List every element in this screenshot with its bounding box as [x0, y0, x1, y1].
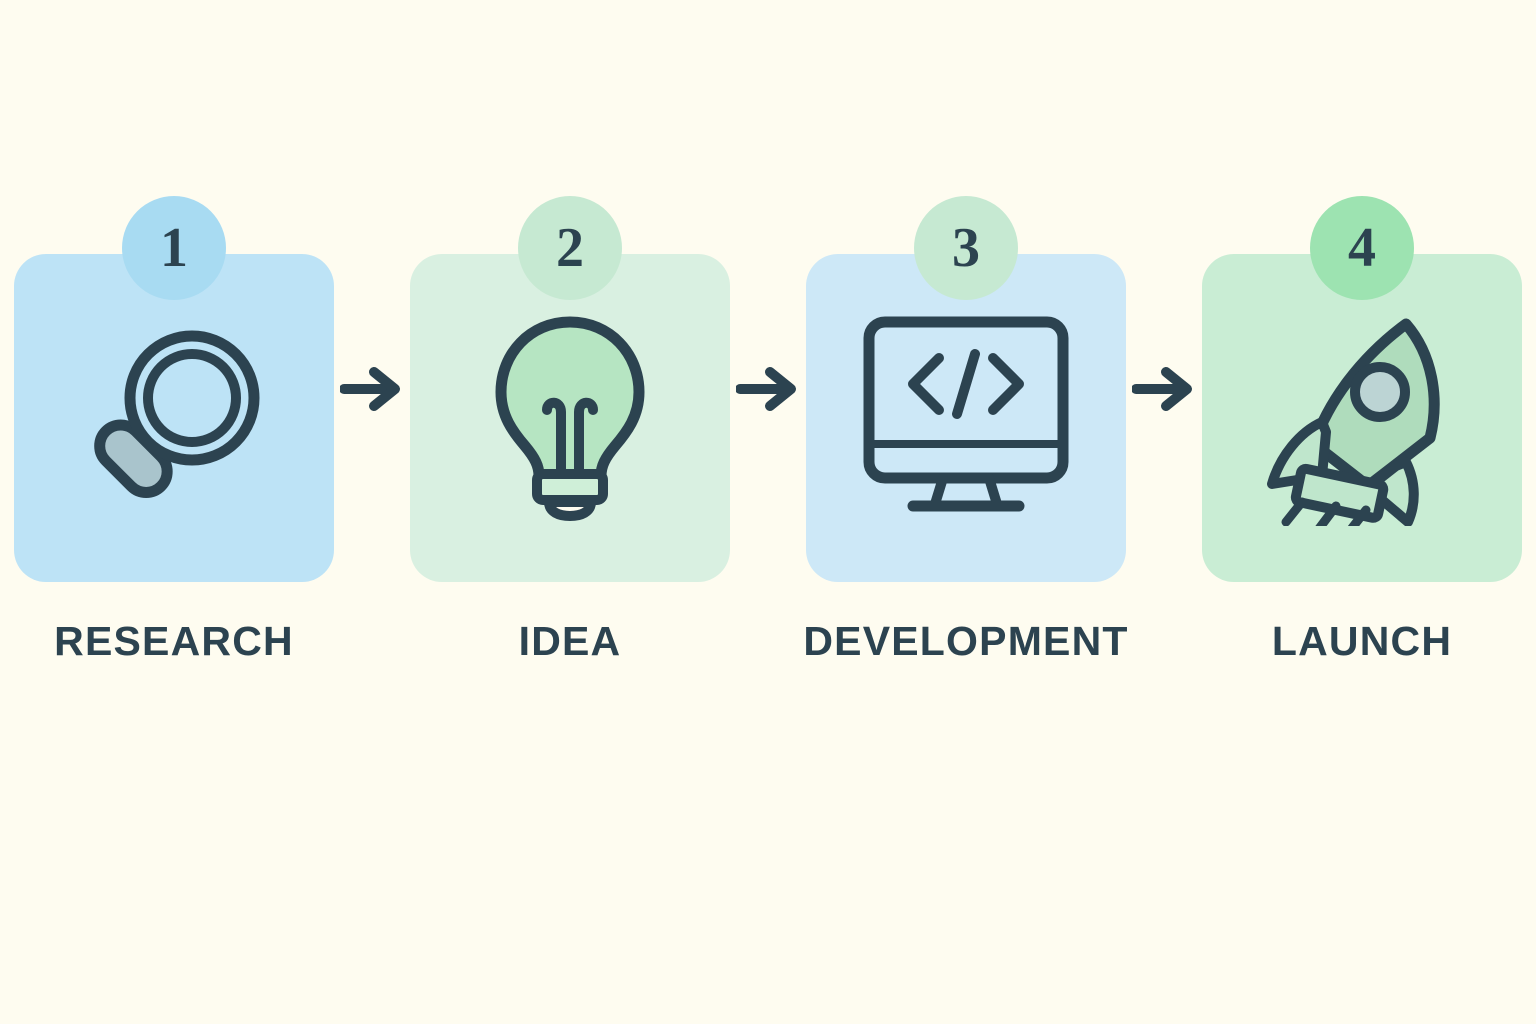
- step-research[interactable]: 1 RESEARCH: [14, 196, 334, 665]
- monitor-code-icon: [861, 314, 1071, 522]
- step-number-4: 4: [1348, 216, 1376, 280]
- arrow-2: [730, 196, 806, 524]
- process-flow: 1 RESEARCH: [0, 196, 1536, 756]
- step-number-1: 1: [160, 216, 188, 280]
- step-card-1[interactable]: [14, 254, 334, 582]
- step-launch[interactable]: 4 LAUNCH: [1202, 196, 1522, 665]
- arrow-1: [334, 196, 410, 524]
- arrow-right-icon: [1132, 364, 1196, 414]
- step-card-3[interactable]: [806, 254, 1126, 582]
- magnifying-glass-icon: [76, 318, 272, 518]
- step-number-3: 3: [952, 216, 980, 280]
- arrow-right-icon: [340, 364, 404, 414]
- step-number-badge-4: 4: [1310, 196, 1414, 300]
- step-card-2[interactable]: [410, 254, 730, 582]
- infographic-canvas: 1 RESEARCH: [0, 0, 1536, 1024]
- step-number-badge-1: 1: [122, 196, 226, 300]
- step-label-4: LAUNCH: [1272, 618, 1452, 665]
- step-label-1: RESEARCH: [54, 618, 294, 665]
- step-idea[interactable]: 2 IDEA: [410, 196, 730, 665]
- lightbulb-icon: [485, 314, 655, 522]
- step-card-4[interactable]: [1202, 254, 1522, 582]
- arrow-right-icon: [736, 364, 800, 414]
- step-label-3: DEVELOPMENT: [803, 618, 1128, 665]
- step-number-badge-2: 2: [518, 196, 622, 300]
- arrow-3: [1126, 196, 1202, 524]
- step-development[interactable]: 3 DEVELOPMENT: [806, 196, 1126, 665]
- step-number-2: 2: [556, 216, 584, 280]
- step-number-badge-3: 3: [914, 196, 1018, 300]
- rocket-icon: [1256, 310, 1468, 526]
- step-label-2: IDEA: [519, 618, 622, 665]
